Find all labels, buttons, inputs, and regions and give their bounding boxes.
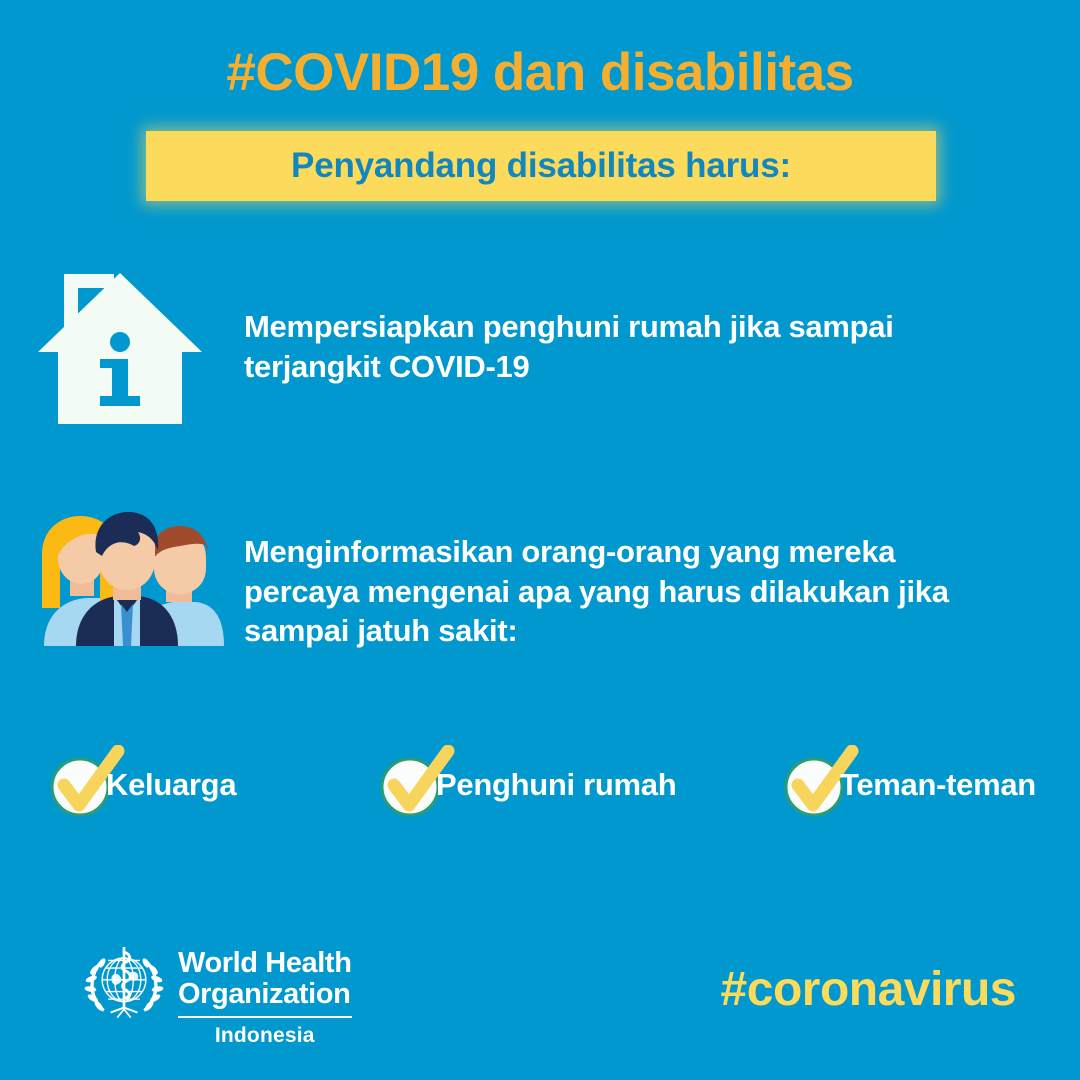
checklist-item-keluarga: Keluarga (48, 740, 236, 830)
who-divider (178, 1016, 352, 1018)
checklist-item-penghuni-rumah: Penghuni rumah (378, 740, 676, 830)
group-of-people-icon (14, 512, 224, 651)
checklist-item-teman-teman: Teman-teman (782, 740, 1036, 830)
page-title: #COVID19 dan disabilitas (0, 44, 1080, 102)
who-name-line-1: World Health (178, 948, 352, 979)
checklist-row: Keluarga Penghuni rumah Teman-teman (0, 740, 1080, 830)
who-emblem-icon (82, 942, 166, 1031)
check-circle-icon (378, 753, 442, 817)
who-logo: World Health Organization Indonesia (82, 942, 352, 1048)
message-row-1: Mempersiapkan penghuni rumah jika sampai… (38, 262, 944, 437)
who-country-label: Indonesia (178, 1024, 352, 1048)
message-row-2: Menginformasikan orang-orang yang mereka… (14, 512, 964, 651)
subtitle-banner-text: Penyandang disabilitas harus: (146, 131, 936, 201)
hashtag-coronavirus: #coronavirus (721, 962, 1016, 1017)
house-info-icon (38, 262, 202, 437)
message-text-1: Mempersiapkan penghuni rumah jika sampai… (244, 307, 944, 386)
infographic-poster: #COVID19 dan disabilitas Penyandang disa… (0, 0, 1080, 1080)
who-name-line-2: Organization (178, 979, 352, 1010)
who-wordmark: World Health Organization Indonesia (178, 948, 352, 1048)
check-circle-icon (48, 753, 112, 817)
checklist-label: Penghuni rumah (436, 767, 676, 803)
subtitle-banner: Penyandang disabilitas harus: (146, 131, 936, 201)
checklist-label: Teman-teman (840, 767, 1036, 803)
check-circle-icon (782, 753, 846, 817)
checklist-label: Keluarga (106, 767, 236, 803)
message-text-2: Menginformasikan orang-orang yang mereka… (244, 532, 964, 651)
